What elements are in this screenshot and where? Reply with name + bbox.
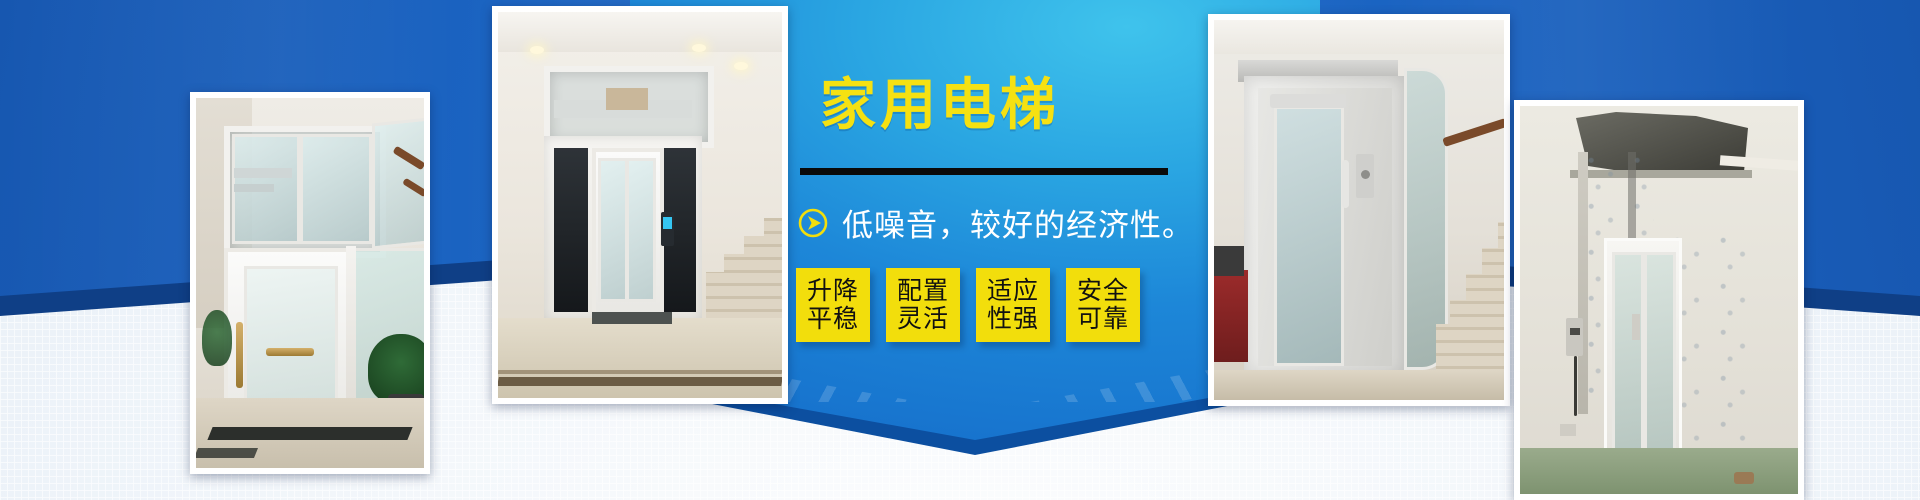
feature-badge[interactable]: 配置 灵活 [886, 268, 960, 342]
feature-badge[interactable]: 升降 平稳 [796, 268, 870, 342]
feature-badge-line2: 性强 [987, 305, 1039, 333]
circle-arrow-right-icon [798, 208, 828, 238]
feature-badge[interactable]: 适应 性强 [976, 268, 1050, 342]
feature-badge-line1: 配置 [897, 277, 949, 305]
center-copy: 家用电梯 低噪音，较好的经济性。 升降 平稳 配置 灵活 适应 性强 [660, 0, 1300, 460]
page-title: 家用电梯 [820, 78, 1060, 134]
photo-image-wrapped-lift [1520, 106, 1798, 494]
feature-badge-line1: 升降 [807, 277, 859, 305]
feature-badge-line2: 灵活 [897, 305, 949, 333]
subtitle-text: 低噪音，较好的经济性。 [842, 200, 1194, 245]
feature-badge-list: 升降 平稳 配置 灵活 适应 性强 安全 可靠 [796, 268, 1140, 342]
subtitle-row: 低噪音，较好的经济性。 [798, 200, 1194, 245]
feature-badge[interactable]: 安全 可靠 [1066, 268, 1140, 342]
feature-badge-line1: 适应 [987, 277, 1039, 305]
home-elevator-banner: 家用电梯 低噪音，较好的经济性。 升降 平稳 配置 灵活 适应 性强 [0, 0, 1920, 500]
photo-card-wrapped-lift [1514, 100, 1804, 500]
feature-badge-line2: 平稳 [807, 305, 859, 333]
title-divider [800, 168, 1168, 175]
photo-card-glass-home-lift [190, 92, 430, 474]
feature-badge-line1: 安全 [1077, 277, 1129, 305]
photo-image-glass-home-lift [196, 98, 424, 468]
feature-badge-line2: 可靠 [1077, 305, 1129, 333]
